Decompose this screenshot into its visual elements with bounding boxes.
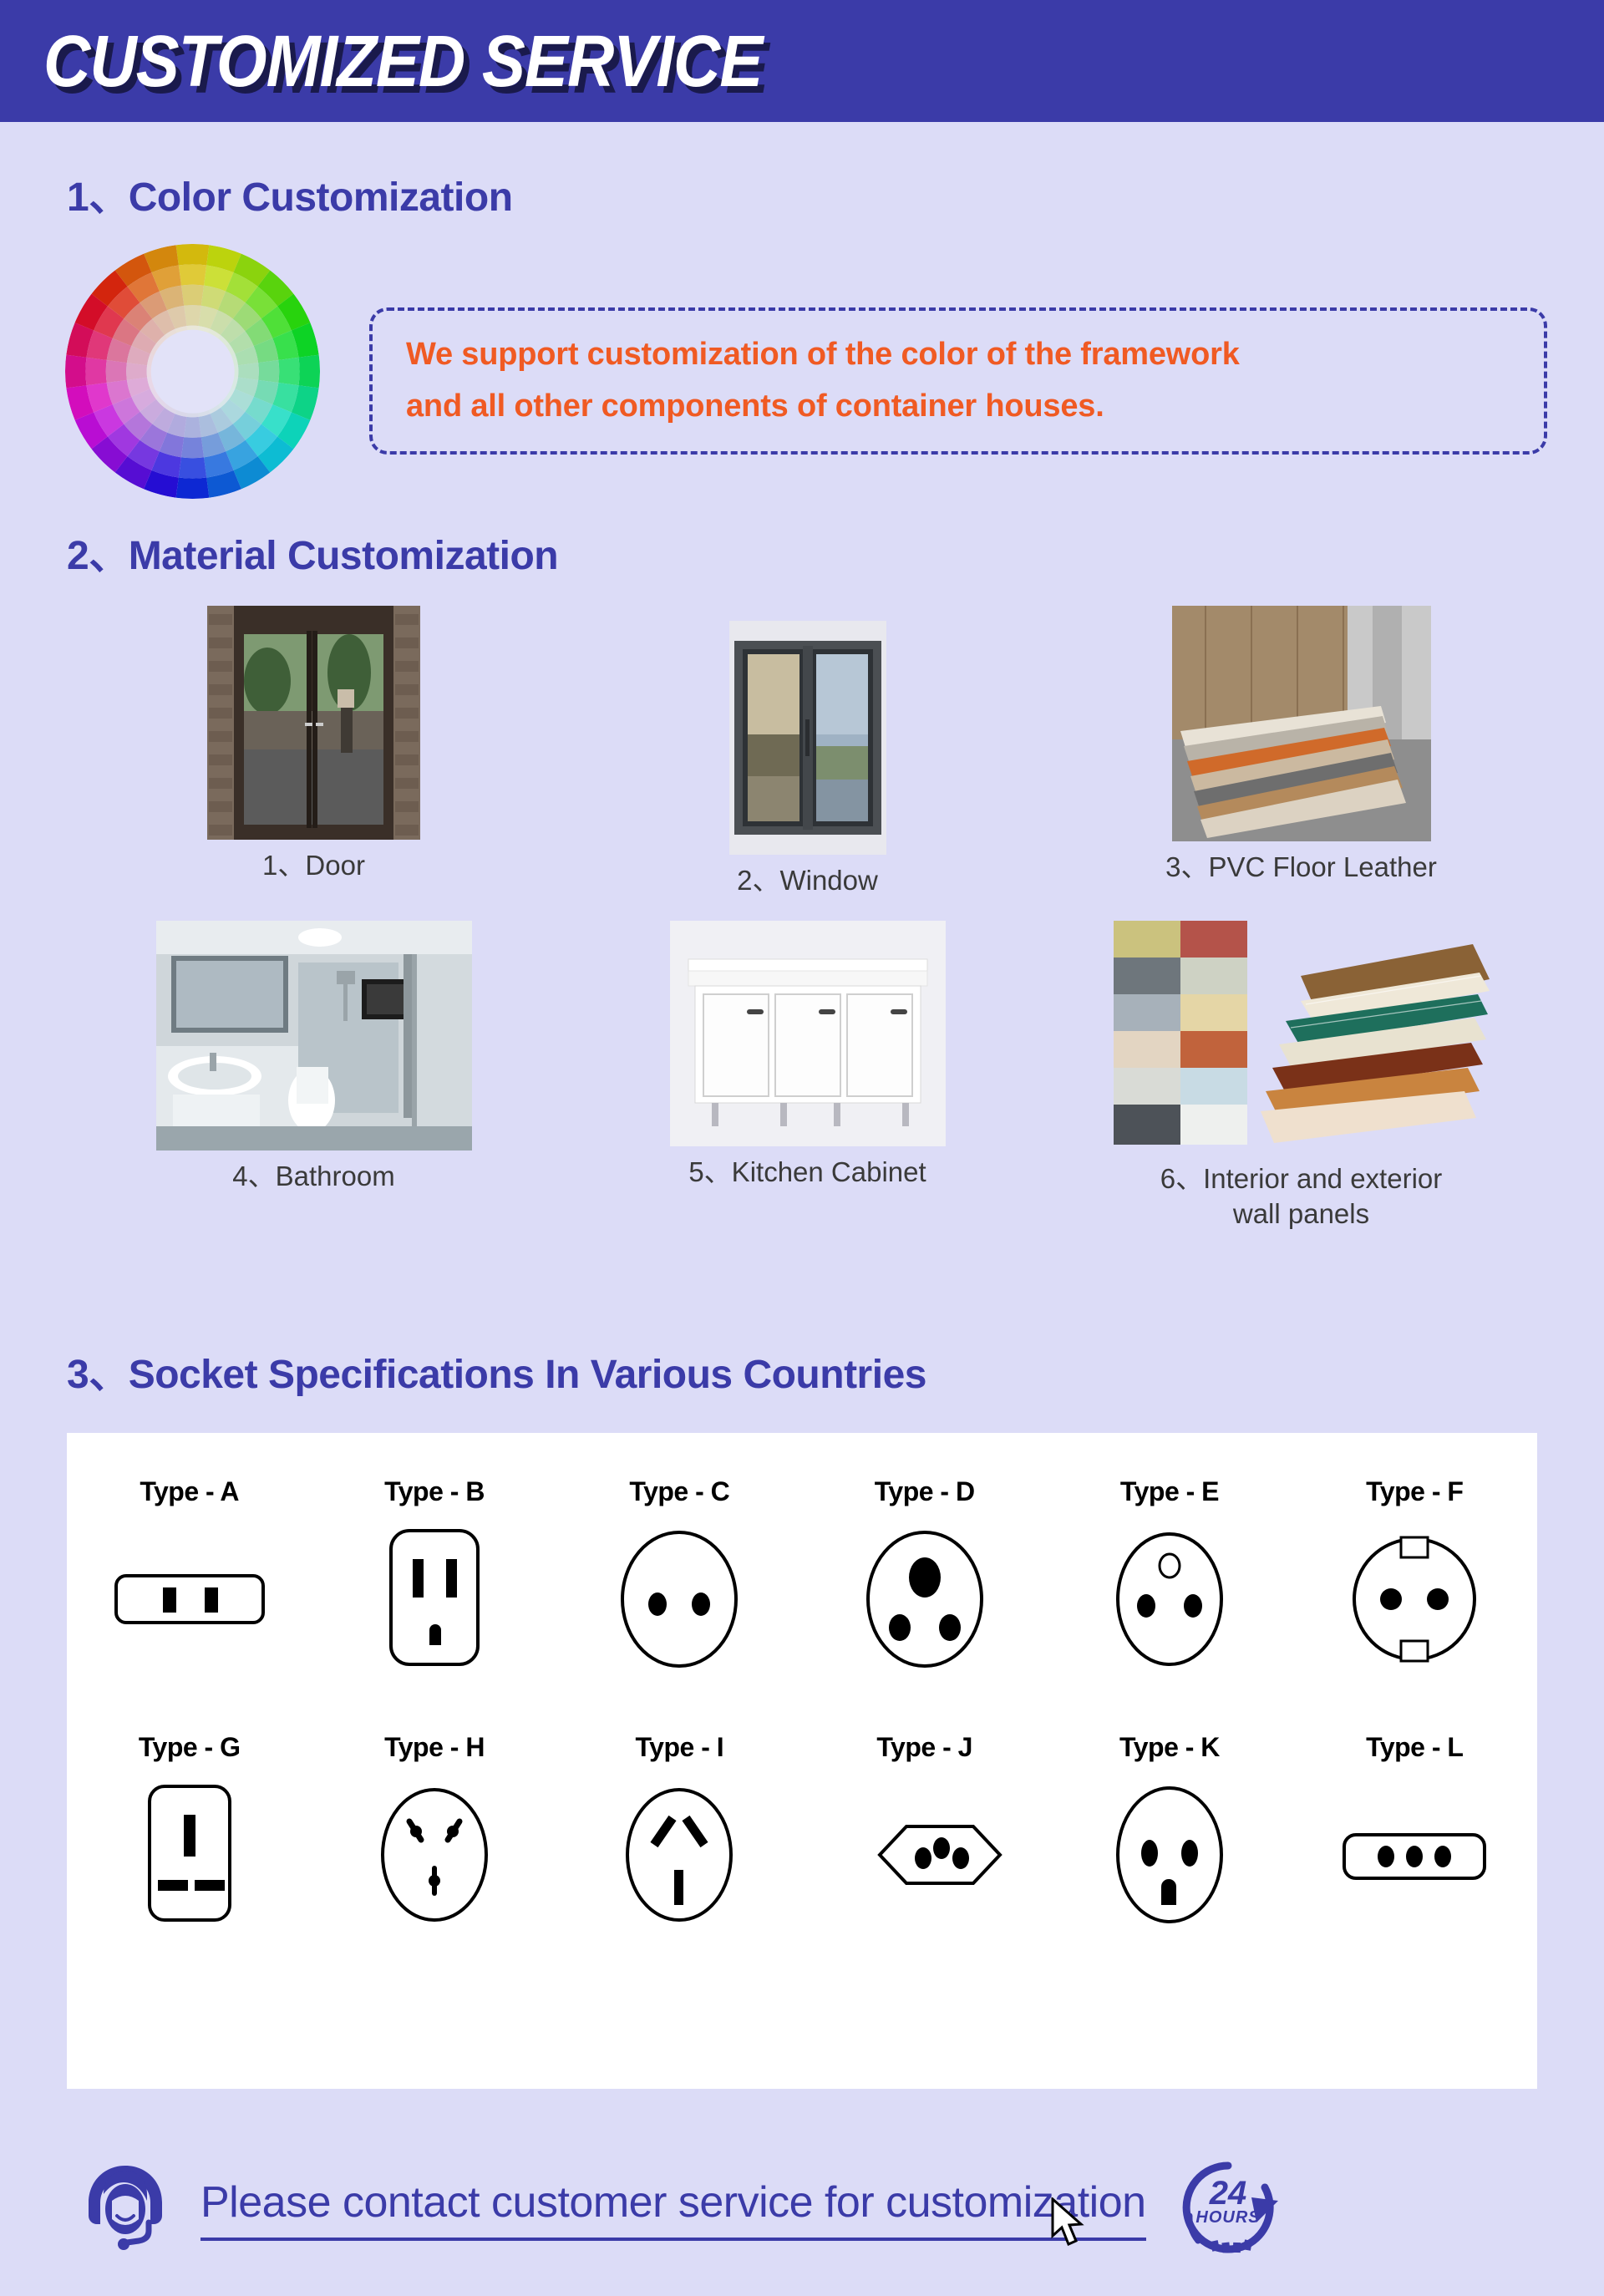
socket-type-d-icon xyxy=(841,1526,1008,1672)
callout-line-1: We support customization of the color of… xyxy=(406,329,1510,381)
socket-item-type-g[interactable]: Type - G xyxy=(67,1732,312,1928)
page-header: CUSTOMIZED SERVICE xyxy=(0,0,1604,122)
socket-type-c-icon xyxy=(596,1526,763,1672)
badge-unit-text: HOURS xyxy=(1195,2208,1260,2227)
socket-label: Type - F xyxy=(1366,1476,1463,1507)
socket-item-type-h[interactable]: Type - H xyxy=(312,1732,556,1928)
socket-type-i-icon xyxy=(596,1781,763,1928)
socket-item-type-a[interactable]: Type - A xyxy=(67,1476,312,1672)
kitchen-cabinet-photo xyxy=(670,921,946,1146)
socket-item-type-j[interactable]: Type - J xyxy=(802,1732,1047,1928)
material-label: 6、Interior and exterior wall panels xyxy=(1134,1161,1469,1231)
socket-type-b-icon xyxy=(351,1526,518,1672)
socket-label: Type - H xyxy=(384,1732,485,1763)
socket-type-l-icon xyxy=(1331,1781,1498,1928)
wall-panels-photo xyxy=(1114,921,1490,1153)
page-title: CUSTOMIZED SERVICE xyxy=(43,18,762,104)
socket-label: Type - K xyxy=(1119,1732,1220,1763)
material-label: 4、Bathroom xyxy=(232,1159,394,1193)
socket-type-a-icon xyxy=(106,1526,273,1672)
section-heading-color-customization: 1、Color Customization xyxy=(67,164,513,222)
callout-line-2: and all other components of container ho… xyxy=(406,381,1510,433)
socket-label: Type - J xyxy=(876,1732,972,1763)
material-label: 5、Kitchen Cabinet xyxy=(688,1155,926,1189)
socket-item-type-i[interactable]: Type - I xyxy=(557,1732,802,1928)
section-heading-socket-specifications: 3、Socket Specifications In Various Count… xyxy=(67,1341,926,1399)
socket-label: Type - L xyxy=(1366,1732,1463,1763)
material-item-wall-panels[interactable]: 6、Interior and exterior wall panels xyxy=(1054,921,1548,1231)
window-photo xyxy=(729,621,886,855)
socket-item-type-c[interactable]: Type - C xyxy=(557,1476,802,1672)
material-label: 2、Window xyxy=(737,863,878,897)
socket-label: Type - D xyxy=(875,1476,975,1507)
socket-label: Type - G xyxy=(139,1732,241,1763)
customer-service-headset-icon xyxy=(75,2157,175,2262)
socket-type-f-icon xyxy=(1331,1526,1498,1672)
socket-item-type-e[interactable]: Type - E xyxy=(1047,1476,1292,1672)
pvc-floor-leather-photo xyxy=(1172,606,1431,841)
material-grid: 1、Door xyxy=(67,606,1550,1231)
socket-specifications-panel: Type - A Type - B xyxy=(67,1433,1537,2089)
socket-item-type-d[interactable]: Type - D xyxy=(802,1476,1047,1672)
socket-label: Type - E xyxy=(1120,1476,1219,1507)
material-row-2: 4、Bathroom xyxy=(67,921,1550,1231)
socket-type-g-icon xyxy=(106,1781,273,1928)
socket-type-j-icon xyxy=(841,1781,1008,1928)
material-label: 1、Door xyxy=(262,848,365,882)
socket-label: Type - A xyxy=(140,1476,239,1507)
material-item-kitchen-cabinet[interactable]: 5、Kitchen Cabinet xyxy=(561,921,1054,1231)
socket-label: Type - C xyxy=(629,1476,729,1507)
socket-type-k-icon xyxy=(1086,1781,1253,1928)
material-item-bathroom[interactable]: 4、Bathroom xyxy=(67,921,561,1231)
material-item-pvc-floor[interactable]: 3、PVC Floor Leather xyxy=(1054,606,1548,897)
material-label: 3、PVC Floor Leather xyxy=(1165,850,1437,884)
socket-type-h-icon xyxy=(351,1781,518,1928)
socket-item-type-k[interactable]: Type - K xyxy=(1047,1732,1292,1928)
color-wheel-hub xyxy=(150,329,235,414)
section-heading-material-customization: 2、Material Customization xyxy=(67,522,558,581)
socket-item-type-l[interactable]: Type - L xyxy=(1292,1732,1537,1928)
color-wheel-icon xyxy=(65,244,320,499)
material-item-window[interactable]: 2、Window xyxy=(561,606,1054,897)
socket-row-1: Type - A Type - B xyxy=(67,1476,1537,1672)
page-footer: Please contact customer service for cust… xyxy=(0,2122,1604,2296)
color-customization-callout: We support customization of the color of… xyxy=(369,307,1547,455)
material-item-door[interactable]: 1、Door xyxy=(67,606,561,897)
bathroom-photo xyxy=(156,921,472,1151)
door-photo xyxy=(207,606,420,840)
24-hours-badge-icon: 24 HOURS xyxy=(1175,2154,1282,2265)
poster-page: CUSTOMIZED SERVICE 1、Color Customization… xyxy=(0,0,1604,2296)
socket-type-e-icon xyxy=(1086,1526,1253,1672)
socket-row-2: Type - G Type - H xyxy=(67,1732,1537,1928)
socket-item-type-f[interactable]: Type - F xyxy=(1292,1476,1537,1672)
socket-label: Type - I xyxy=(636,1732,724,1763)
socket-item-type-b[interactable]: Type - B xyxy=(312,1476,556,1672)
material-row-1: 1、Door xyxy=(67,606,1550,897)
badge-number-text: 24 xyxy=(1208,2175,1246,2212)
socket-label: Type - B xyxy=(384,1476,485,1507)
contact-customer-service-link[interactable]: Please contact customer service for cust… xyxy=(200,2177,1146,2241)
